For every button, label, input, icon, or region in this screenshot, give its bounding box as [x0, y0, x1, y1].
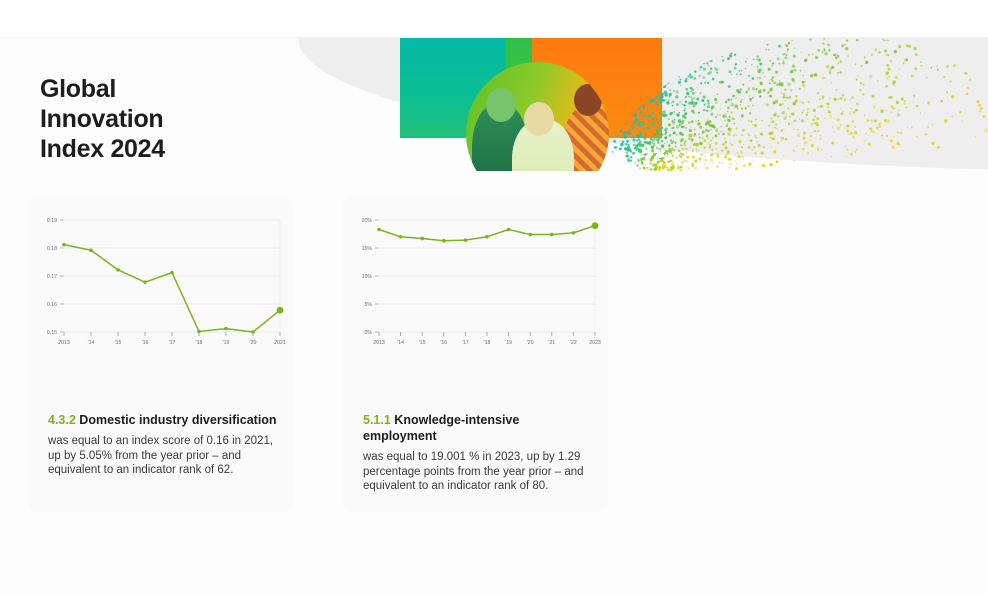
person-left-head [486, 88, 516, 122]
svg-text:'20: '20 [527, 340, 534, 346]
indicator-code: 4.3.2 [48, 413, 76, 427]
svg-text:'16: '16 [142, 340, 149, 346]
svg-text:'18: '18 [484, 340, 491, 346]
svg-text:20%: 20% [362, 218, 373, 224]
svg-text:'15: '15 [419, 340, 426, 346]
title-line-3: Index 2024 [40, 134, 280, 164]
page-canvas: Global Innovation Index 2024 0.190.180.1… [0, 38, 988, 596]
indicator-code: 5.1.1 [363, 413, 391, 427]
caption-body: was equal to 19.001 % in 2023, up by 1.2… [363, 450, 593, 494]
svg-text:'19: '19 [505, 340, 512, 346]
svg-text:0.18: 0.18 [47, 246, 57, 252]
svg-text:'17: '17 [169, 340, 176, 346]
indicator-name: Domestic industry diversification [79, 413, 276, 427]
svg-text:2013: 2013 [58, 340, 70, 346]
indicator-card[interactable]: 20%15%10%5%0%2013'14'15'16'17'18'19'20'2… [343, 196, 608, 512]
title-line-2: Innovation [40, 104, 280, 134]
svg-text:0.15: 0.15 [47, 330, 57, 336]
card-caption: 4.3.2 Domestic industry diversification … [48, 412, 278, 478]
svg-text:'17: '17 [462, 340, 469, 346]
person-center-head [524, 102, 554, 136]
svg-text:5%: 5% [365, 302, 373, 308]
svg-text:'14: '14 [88, 340, 95, 346]
caption-heading: 5.1.1 Knowledge-intensive employment [363, 412, 593, 444]
chart-container-1: 20%15%10%5%0%2013'14'15'16'17'18'19'20'2… [343, 204, 608, 394]
caption-heading: 4.3.2 Domestic industry diversification [48, 412, 278, 428]
svg-text:'19: '19 [223, 340, 230, 346]
hero-data-visualization [598, 38, 988, 171]
svg-text:10%: 10% [362, 274, 373, 280]
page-title: Global Innovation Index 2024 [40, 74, 280, 164]
svg-text:'22: '22 [570, 340, 577, 346]
svg-text:2023: 2023 [589, 340, 601, 346]
svg-text:'14: '14 [397, 340, 404, 346]
svg-text:0.17: 0.17 [47, 274, 57, 280]
svg-text:'18: '18 [196, 340, 203, 346]
chart-container-0: 0.190.180.170.160.152013'14'15'16'17'18'… [28, 204, 293, 394]
svg-text:0%: 0% [365, 330, 373, 336]
title-line-1: Global [40, 74, 280, 104]
hero-banner [298, 38, 988, 171]
svg-text:2021: 2021 [274, 340, 286, 346]
svg-text:0.19: 0.19 [47, 218, 57, 224]
caption-body: was equal to an index score of 0.16 in 2… [48, 434, 278, 478]
svg-text:15%: 15% [362, 246, 373, 252]
svg-text:'15: '15 [115, 340, 122, 346]
card-caption: 5.1.1 Knowledge-intensive employment was… [363, 412, 593, 494]
svg-text:'21: '21 [548, 340, 555, 346]
svg-text:'16: '16 [440, 340, 447, 346]
svg-text:'20: '20 [250, 340, 257, 346]
indicator-card[interactable]: 0.190.180.170.160.152013'14'15'16'17'18'… [28, 196, 293, 512]
svg-text:0.16: 0.16 [47, 302, 57, 308]
svg-text:2013: 2013 [373, 340, 385, 346]
